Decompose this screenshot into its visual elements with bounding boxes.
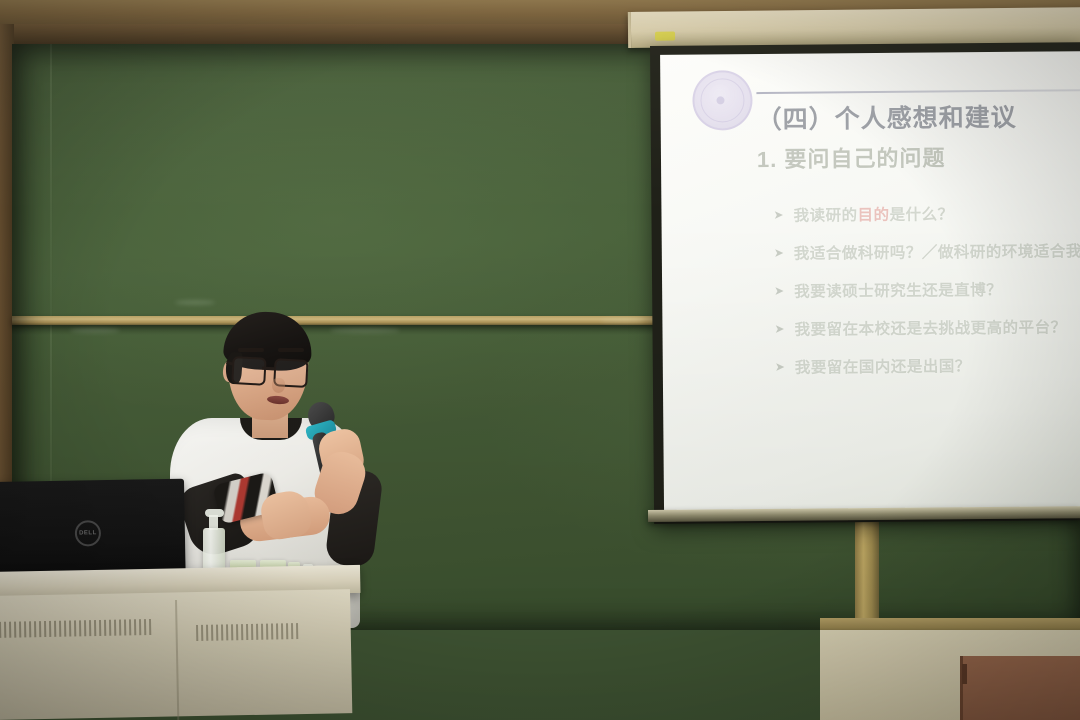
slide-bullet-list: ➤ 我读研的目的是什么？ ➤ 我适合做科研吗？／做科研的环境适合我吗？ ➤ 我要…	[773, 193, 1080, 386]
glasses-lens-left	[231, 356, 266, 386]
podium-vent-left	[0, 619, 151, 638]
bullet-text-highlight: 目的	[857, 207, 889, 224]
bullet-arrow-icon: ➤	[774, 284, 784, 298]
slide-bullet-item: ➤ 我要读硕士研究生还是直博？	[774, 269, 1080, 310]
slide-title: （四）个人感想和建议	[756, 97, 1080, 136]
bullet-text: 我适合做科研吗？／做科研的环境适合我吗？	[794, 239, 1080, 264]
dell-logo-icon: DELL	[75, 520, 101, 546]
university-seal-logo	[692, 70, 753, 131]
bullet-text-pre: 我读研的	[793, 207, 857, 225]
presenter-glasses	[231, 356, 308, 384]
chalk-smudge	[600, 318, 644, 323]
classroom-door	[960, 656, 1080, 720]
chalk-smudge	[330, 328, 400, 333]
seal-center	[716, 96, 724, 104]
slide-bullet-item: ➤ 我要留在本校还是去挑战更高的平台？	[774, 307, 1080, 348]
chalk-smudge	[175, 300, 215, 305]
slide-bullet-item: ➤ 我适合做科研吗？／做科研的环境适合我吗？	[774, 231, 1080, 272]
podium-vent-right	[196, 623, 298, 641]
screen-support-column	[855, 520, 879, 630]
presentation-slide: （四）个人感想和建议 1. 要问自己的问题 ➤ 我读研的目的是什么？ ➤ 我适合…	[660, 51, 1080, 512]
slide-subtitle: 1. 要问自己的问题	[757, 139, 1080, 174]
presenter-nose	[272, 378, 285, 393]
bullet-text: 我要留在国内还是出国？	[795, 354, 971, 378]
presenter-eyebrow	[238, 348, 264, 352]
slide-bullet-item: ➤ 我要留在国内还是出国？	[775, 345, 1080, 386]
bullet-arrow-icon: ➤	[775, 360, 785, 374]
yellow-sticker	[655, 32, 675, 41]
slide-title-rule	[756, 89, 1080, 94]
bullet-arrow-icon: ➤	[774, 246, 784, 260]
projection-screen-surface: （四）个人感想和建议 1. 要问自己的问题 ➤ 我读研的目的是什么？ ➤ 我适合…	[660, 51, 1080, 512]
slide-bullet-item: ➤ 我读研的目的是什么？	[773, 193, 1080, 234]
door-jamb	[962, 664, 967, 684]
dell-monitor: DELL	[0, 479, 186, 580]
bullet-text: 我要读硕士研究生还是直博？	[794, 278, 1002, 302]
dell-logo-text: DELL	[79, 530, 97, 536]
bullet-arrow-icon: ➤	[773, 208, 783, 222]
bullet-text-post: 是什么？	[890, 206, 954, 224]
projection-screen-frame: （四）个人感想和建议 1. 要问自己的问题 ➤ 我读研的目的是什么？ ➤ 我适合…	[650, 42, 1080, 524]
lecture-hall-scene: （四）个人感想和建议 1. 要问自己的问题 ➤ 我读研的目的是什么？ ➤ 我适合…	[0, 0, 1080, 720]
chalk-smudge	[70, 328, 120, 333]
presenter-eyebrow	[278, 348, 304, 352]
chalkboard-seam-upper	[50, 44, 52, 316]
bullet-text: 我要留在本校还是去挑战更高的平台？	[794, 315, 1066, 339]
bullet-arrow-icon: ➤	[774, 322, 784, 336]
bullet-text: 我读研的目的是什么？	[793, 202, 953, 225]
